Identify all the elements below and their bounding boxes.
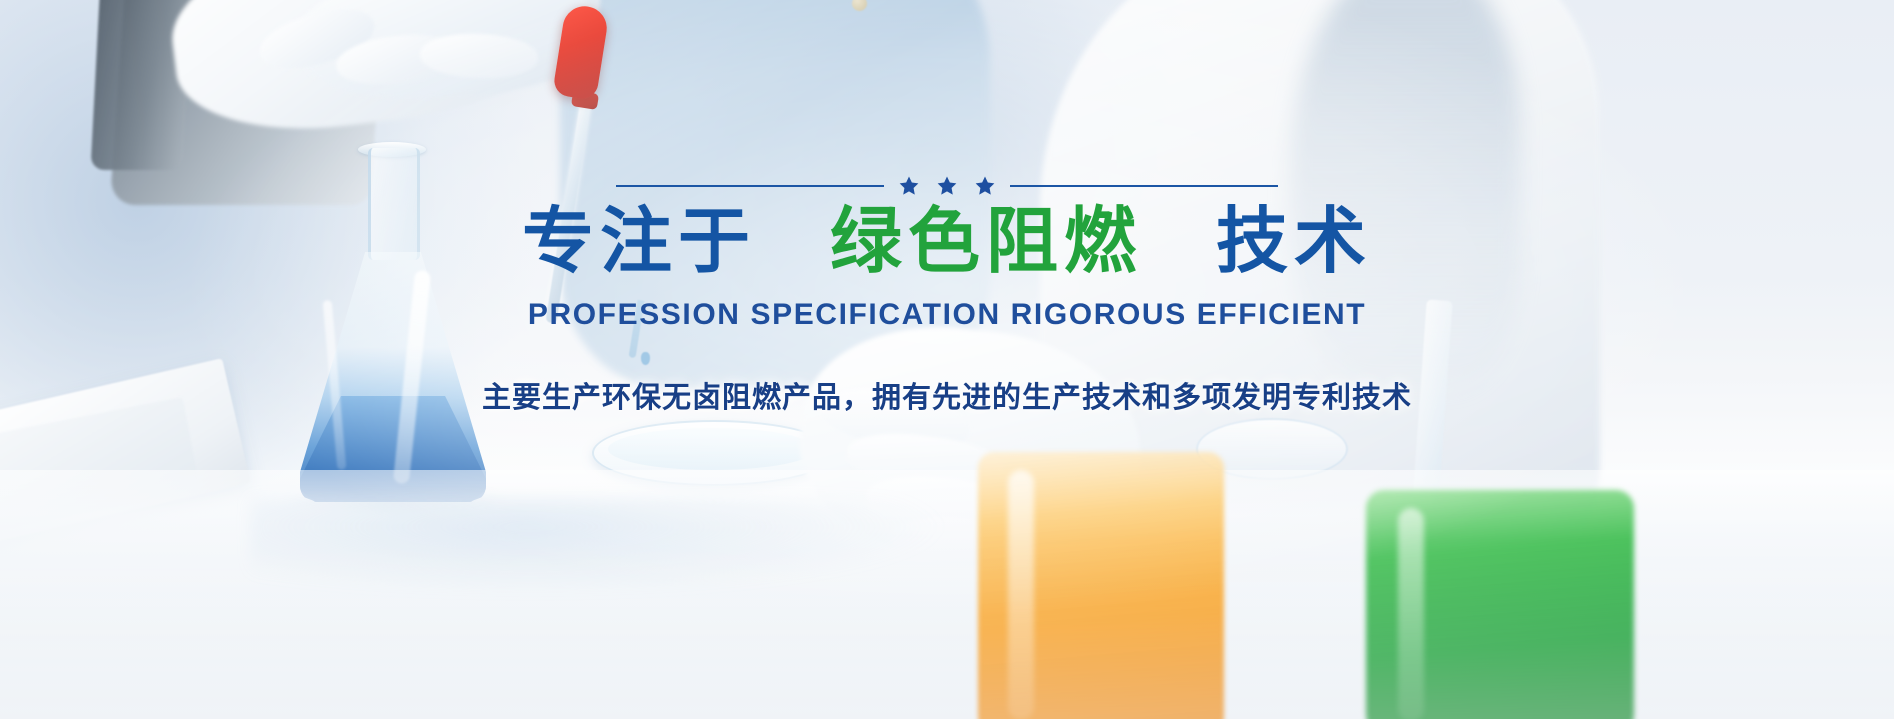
headline-part-1: 专注于 (522, 202, 756, 282)
tagline: 主要生产环保无卤阻燃产品，拥有先进的生产技术和多项发明专利技术 (482, 374, 1412, 416)
headline: 专注于 绿色阻燃 技术 (522, 206, 1372, 278)
star-icon (936, 175, 958, 197)
divider-line-right (1010, 185, 1278, 187)
star-icon (974, 175, 996, 197)
divider-line-left (616, 185, 884, 187)
decorative-divider (616, 178, 1278, 194)
banner-content: 专注于 绿色阻燃 技术 PROFESSION SPECIFICATION RIG… (0, 0, 1894, 719)
star-group (898, 175, 996, 197)
english-subtitle: PROFESSION SPECIFICATION RIGOROUS EFFICI… (528, 298, 1366, 332)
headline-part-3: 技术 (1216, 202, 1372, 282)
headline-part-2: 绿色阻燃 (830, 202, 1142, 282)
hero-banner: 专注于 绿色阻燃 技术 PROFESSION SPECIFICATION RIG… (0, 0, 1894, 719)
star-icon (898, 175, 920, 197)
